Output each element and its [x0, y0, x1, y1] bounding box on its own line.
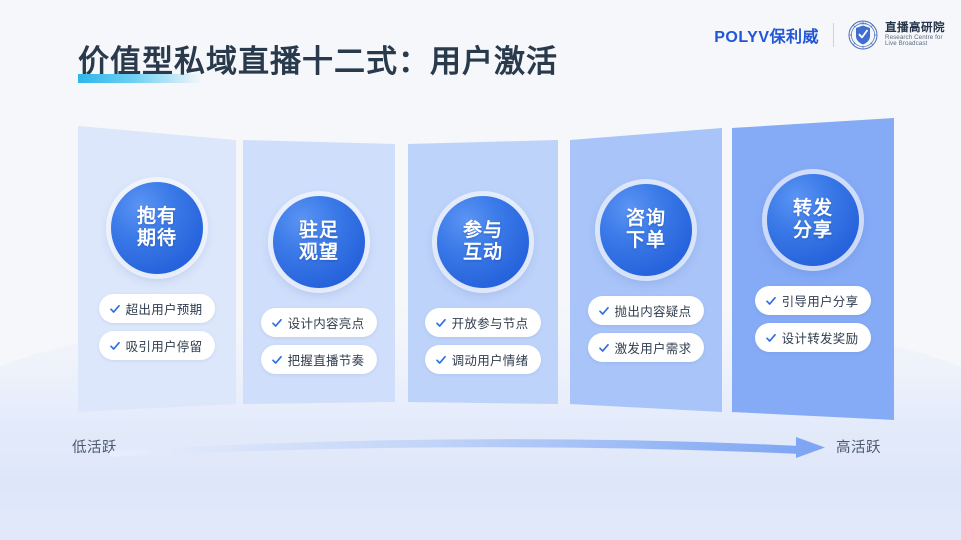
stage-panel-2[interactable]: 驻足观望设计内容亮点把握直播节奏 — [243, 118, 395, 418]
stage-label-line-1: 抱有 — [137, 206, 177, 228]
panel-item-list-4: 抛出内容疑点激发用户需求 — [588, 296, 705, 362]
check-icon — [598, 305, 610, 317]
check-icon — [271, 317, 283, 329]
list-item[interactable]: 抛出内容疑点 — [588, 296, 705, 325]
axis-arrow-icon — [110, 424, 840, 470]
slide-canvas: 价值型私域直播十二式：用户激活 POLYV保利威 — [0, 0, 961, 540]
list-item-label: 设计内容亮点 — [288, 313, 365, 332]
research-centre-logo: RCLB 直播高研院 Research Centre for Live Broa… — [848, 20, 945, 50]
panel-content-5: 转发分享引导用户分享设计转发奖励 — [732, 118, 894, 418]
stage-circle-4[interactable]: 咨询下单 — [600, 184, 692, 276]
research-centre-text: 直播高研院 Research Centre for Live Broadcast — [885, 22, 945, 48]
rc-english-line-2: Live Broadcast — [885, 41, 945, 48]
stage-panel-1[interactable]: 抱有期待超出用户预期吸引用户停留 — [78, 118, 236, 418]
stage-circle-3[interactable]: 参与互动 — [437, 196, 529, 288]
stage-panel-5[interactable]: 转发分享引导用户分享设计转发奖励 — [732, 118, 894, 418]
panel-content-1: 抱有期待超出用户预期吸引用户停留 — [78, 118, 236, 418]
stage-label-line-2: 互动 — [463, 242, 503, 264]
panel-item-list-5: 引导用户分享设计转发奖励 — [755, 286, 872, 352]
check-icon — [271, 354, 283, 366]
stage-label-line-2: 分享 — [793, 220, 833, 242]
list-item[interactable]: 吸引用户停留 — [99, 331, 216, 360]
list-item-label: 设计转发奖励 — [782, 328, 859, 347]
panel-item-list-2: 设计内容亮点把握直播节奏 — [261, 308, 378, 374]
check-icon — [765, 332, 777, 344]
panel-content-4: 咨询下单抛出内容疑点激发用户需求 — [570, 118, 722, 418]
check-icon — [765, 295, 777, 307]
title-underline-accent — [78, 74, 202, 83]
axis-high-label: 高活跃 — [836, 436, 881, 457]
list-item-label: 激发用户需求 — [615, 338, 692, 357]
stage-label-line-2: 期待 — [137, 228, 177, 250]
panel-item-list-3: 开放参与节点调动用户情绪 — [425, 308, 542, 374]
check-icon — [109, 303, 121, 315]
seal-icon: RCLB — [848, 20, 878, 50]
stage-label-line-2: 观望 — [299, 242, 339, 264]
logo-bar: POLYV保利威 — [714, 20, 945, 50]
check-icon — [435, 317, 447, 329]
stage-panel-3[interactable]: 参与互动开放参与节点调动用户情绪 — [408, 118, 558, 418]
stage-label-line-1: 咨询 — [626, 208, 666, 230]
list-item[interactable]: 调动用户情绪 — [425, 345, 542, 374]
list-item-label: 抛出内容疑点 — [615, 301, 692, 320]
stage-panels: 抱有期待超出用户预期吸引用户停留驻足观望设计内容亮点把握直播节奏参与互动开放参与… — [0, 118, 961, 428]
list-item-label: 把握直播节奏 — [288, 350, 365, 369]
slide-header: 价值型私域直播十二式：用户激活 POLYV保利威 — [0, 0, 961, 110]
list-item[interactable]: 激发用户需求 — [588, 333, 705, 362]
stage-label-line-1: 驻足 — [299, 220, 339, 242]
list-item[interactable]: 开放参与节点 — [425, 308, 542, 337]
panel-content-3: 参与互动开放参与节点调动用户情绪 — [408, 118, 558, 418]
panel-item-list-1: 超出用户预期吸引用户停留 — [99, 294, 216, 360]
polyv-logo: POLYV保利威 — [714, 23, 819, 47]
activity-axis: 低活跃 高活跃 — [0, 424, 961, 474]
list-item-label: 引导用户分享 — [782, 291, 859, 310]
stage-label-line-2: 下单 — [626, 230, 666, 252]
logo-divider — [833, 23, 834, 47]
stage-circle-1[interactable]: 抱有期待 — [111, 182, 203, 274]
panel-content-2: 驻足观望设计内容亮点把握直播节奏 — [243, 118, 395, 418]
check-icon — [109, 340, 121, 352]
list-item[interactable]: 设计转发奖励 — [755, 323, 872, 352]
list-item[interactable]: 把握直播节奏 — [261, 345, 378, 374]
list-item-label: 吸引用户停留 — [126, 336, 203, 355]
stage-label-line-1: 转发 — [793, 198, 833, 220]
list-item[interactable]: 超出用户预期 — [99, 294, 216, 323]
check-icon — [435, 354, 447, 366]
list-item-label: 开放参与节点 — [452, 313, 529, 332]
stage-circle-5[interactable]: 转发分享 — [767, 174, 859, 266]
rc-chinese-name: 直播高研院 — [885, 22, 945, 34]
check-icon — [598, 342, 610, 354]
list-item-label: 超出用户预期 — [126, 299, 203, 318]
stage-label-line-1: 参与 — [463, 220, 503, 242]
list-item[interactable]: 引导用户分享 — [755, 286, 872, 315]
svg-text:RCLB: RCLB — [860, 22, 867, 26]
list-item[interactable]: 设计内容亮点 — [261, 308, 378, 337]
stage-circle-2[interactable]: 驻足观望 — [273, 196, 365, 288]
stage-panel-4[interactable]: 咨询下单抛出内容疑点激发用户需求 — [570, 118, 722, 418]
list-item-label: 调动用户情绪 — [452, 350, 529, 369]
